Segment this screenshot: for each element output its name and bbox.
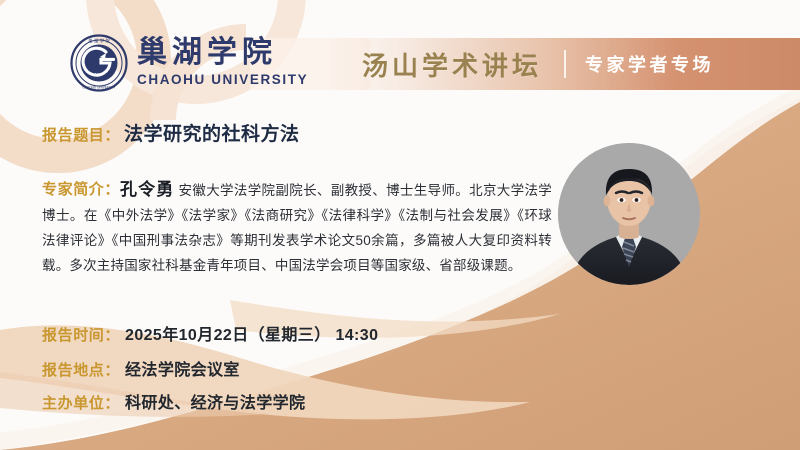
lecture-time-value: 2025年10月22日（星期三） 14:30	[125, 321, 378, 345]
lecture-host-row: 主办单位： 科研处、经济与法学学院	[42, 389, 305, 413]
lecture-poster: 1977 巢 湖 学 院 CHAOHU UNIVERSITY 巢湖学院 CHAO…	[0, 0, 800, 450]
lecture-place-label: 报告地点：	[42, 359, 120, 380]
lecture-host-label: 主办单位：	[42, 392, 120, 413]
speaker-portrait	[558, 143, 700, 285]
lecture-title-row: 报告题目： 法学研究的社科方法	[42, 119, 300, 146]
lecture-place-value: 经法学院会议室	[125, 356, 240, 380]
speaker-bio-label: 专家简介：	[42, 177, 120, 202]
poster-content: 报告题目： 法学研究的社科方法 专家简介：孔令勇 安徽大学法学院副院长、副教授、…	[0, 0, 800, 450]
lecture-time-label: 报告时间：	[42, 324, 120, 345]
lecture-title-value: 法学研究的社科方法	[124, 119, 300, 146]
lecture-place-row: 报告地点： 经法学院会议室	[42, 356, 240, 380]
lecture-time-row: 报告时间： 2025年10月22日（星期三） 14:30	[42, 321, 378, 345]
lecture-host-value: 科研处、经济与法学学院	[125, 389, 305, 413]
speaker-bio-paragraph: 专家简介：孔令勇 安徽大学法学院副院长、副教授、博士生导师。北京大学法学博士。在…	[42, 177, 552, 278]
speaker-bio-block: 专家简介：孔令勇 安徽大学法学院副院长、副教授、博士生导师。北京大学法学博士。在…	[42, 163, 552, 291]
lecture-title-label: 报告题目：	[42, 124, 120, 145]
speaker-name: 孔令勇	[120, 180, 174, 199]
